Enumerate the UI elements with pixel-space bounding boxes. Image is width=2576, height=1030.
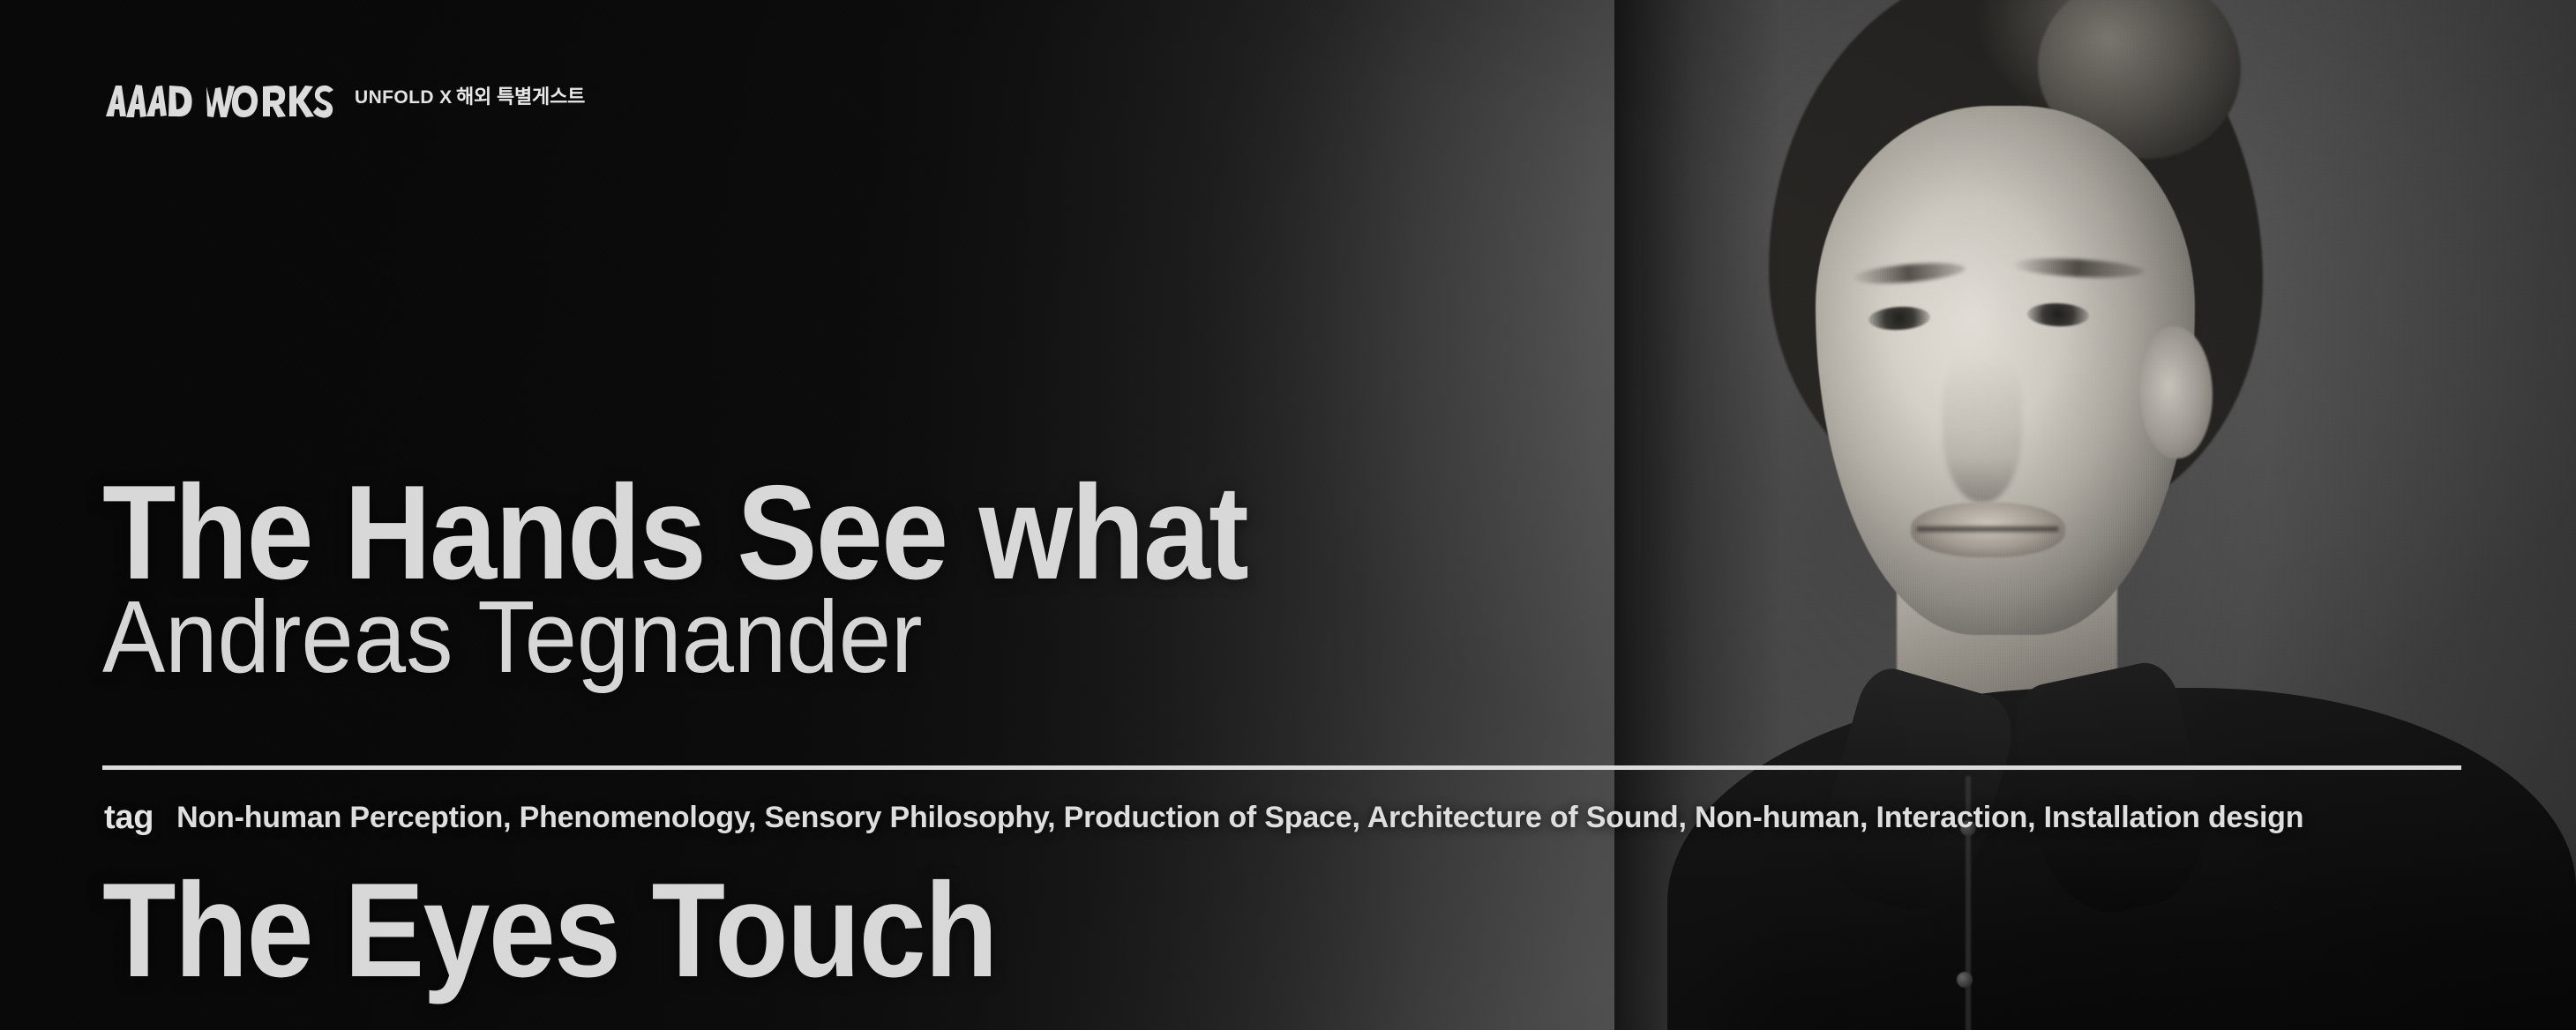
tag-label: tag [104,795,154,840]
headline-line-2: The Eyes Touch [102,864,1247,996]
horizontal-divider [102,765,2461,770]
program-label: UNFOLD X [355,87,453,108]
speaker-name: Andreas Tegnander [102,586,923,688]
banner-content: UNFOLD X 해외 특별게스트 The Hands See what The… [0,0,2576,1030]
brand-lockup: UNFOLD X 해외 특별게스트 [104,81,585,122]
guest-label-korean: 해외 특별게스트 [456,86,585,108]
tag-list: Non-human Perception, Phenomenology, Sen… [176,795,2303,840]
aad-workshop-logo-icon [104,81,335,122]
brand-side-text: UNFOLD X 해외 특별게스트 [355,81,585,110]
speaker-announcement-banner: UNFOLD X 해외 특별게스트 The Hands See what The… [0,0,2576,1030]
tag-section: tag Non-human Perception, Phenomenology,… [104,795,2303,840]
